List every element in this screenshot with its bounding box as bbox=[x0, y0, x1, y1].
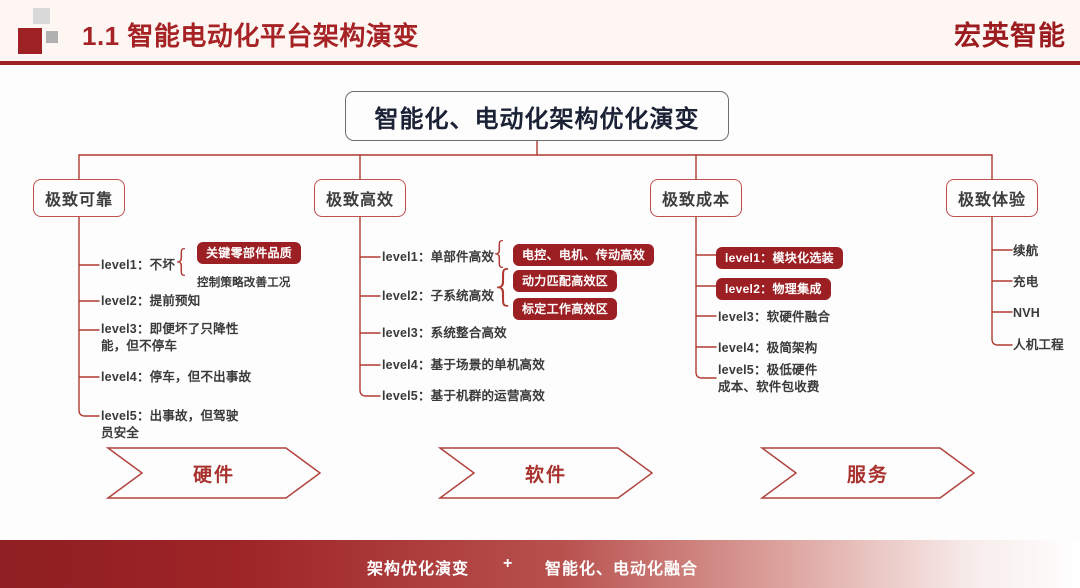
brace-icon: { bbox=[172, 247, 191, 277]
branch-node-label: 极致成本 bbox=[662, 186, 730, 210]
list-item[interactable]: NVH bbox=[1013, 305, 1040, 322]
list-item[interactable]: level5：基于机群的运营高效 bbox=[382, 388, 545, 405]
chevron-label: 硬件 bbox=[108, 448, 320, 498]
root-node-label: 智能化、电动化架构优化演变 bbox=[375, 99, 700, 134]
list-item[interactable]: level1：单部件高效 bbox=[382, 249, 494, 266]
annotation-text: 控制策略改善工况 bbox=[197, 274, 291, 290]
list-item[interactable]: 续航 bbox=[1013, 243, 1038, 260]
branch-node-label: 极致高效 bbox=[326, 186, 394, 210]
list-item[interactable]: level3：即便坏了只降性能，但不停车 bbox=[101, 321, 251, 355]
footer-left-text: 架构优化演变 bbox=[367, 555, 469, 579]
annotation-pill[interactable]: 标定工作高效区 bbox=[513, 298, 617, 320]
slide: 1.1 智能电动化平台架构演变 宏英智能 bbox=[0, 0, 1080, 588]
chevron-hardware[interactable]: 硬件 bbox=[108, 448, 320, 498]
small-gray-square-icon bbox=[46, 31, 58, 43]
list-item[interactable]: level5：出事故，但驾驶员安全 bbox=[101, 408, 251, 442]
slide-footer: 架构优化演变 + 智能化、电动化融合 bbox=[0, 540, 1080, 588]
branch-node-efficiency[interactable]: 极致高效 bbox=[314, 179, 406, 217]
slide-header: 1.1 智能电动化平台架构演变 宏英智能 bbox=[0, 0, 1080, 64]
footer-content: 架构优化演变 + 智能化、电动化融合 bbox=[0, 540, 1080, 588]
list-item[interactable]: level3：系统整合高效 bbox=[382, 325, 507, 342]
list-item[interactable]: level4：基于场景的单机高效 bbox=[382, 357, 545, 374]
annotation-pill[interactable]: 关键零部件品质 bbox=[197, 242, 301, 264]
footer-plus-sign: + bbox=[503, 555, 513, 573]
list-item-highlighted[interactable]: level1：模块化选装 bbox=[716, 247, 843, 269]
annotation-pill[interactable]: 动力匹配高效区 bbox=[513, 270, 617, 292]
list-item-highlighted[interactable]: level2：物理集成 bbox=[716, 278, 831, 300]
diagram-canvas: 智能化、电动化架构优化演变 极致可靠 极致高效 极致成本 极致体验 level1… bbox=[0, 65, 1080, 538]
chevron-software[interactable]: 软件 bbox=[440, 448, 652, 498]
chevron-service[interactable]: 服务 bbox=[762, 448, 974, 498]
list-item[interactable]: level4：极简架构 bbox=[718, 340, 817, 357]
gray-square-icon bbox=[33, 8, 50, 24]
brand-logo-text: 宏英智能 bbox=[954, 14, 1066, 53]
chevron-label: 软件 bbox=[440, 448, 652, 498]
list-item[interactable]: level2：提前预知 bbox=[101, 293, 200, 310]
branch-node-label: 极致可靠 bbox=[45, 186, 113, 210]
branch-node-cost[interactable]: 极致成本 bbox=[650, 179, 742, 217]
list-item[interactable]: 充电 bbox=[1013, 274, 1038, 291]
root-node[interactable]: 智能化、电动化架构优化演变 bbox=[345, 91, 729, 141]
footer-right-text: 智能化、电动化融合 bbox=[545, 555, 698, 579]
logo-mark bbox=[14, 8, 64, 56]
list-item[interactable]: level2：子系统高效 bbox=[382, 288, 494, 305]
list-item[interactable]: level1：不坏 bbox=[101, 257, 175, 274]
branch-node-label: 极致体验 bbox=[958, 186, 1026, 210]
chevron-label: 服务 bbox=[762, 448, 974, 498]
annotation-pill[interactable]: 电控、电机、传动高效 bbox=[513, 244, 654, 266]
list-item[interactable]: level5：极低硬件成本、软件包收费 bbox=[718, 362, 848, 396]
red-square-icon bbox=[18, 28, 42, 54]
page-title: 1.1 智能电动化平台架构演变 bbox=[82, 16, 419, 53]
branch-node-experience[interactable]: 极致体验 bbox=[946, 179, 1038, 217]
list-item[interactable]: 人机工程 bbox=[1013, 337, 1064, 354]
list-item[interactable]: level3：软硬件融合 bbox=[718, 309, 830, 326]
branch-node-reliability[interactable]: 极致可靠 bbox=[33, 179, 125, 217]
list-item[interactable]: level4：停车，但不出事故 bbox=[101, 369, 251, 386]
